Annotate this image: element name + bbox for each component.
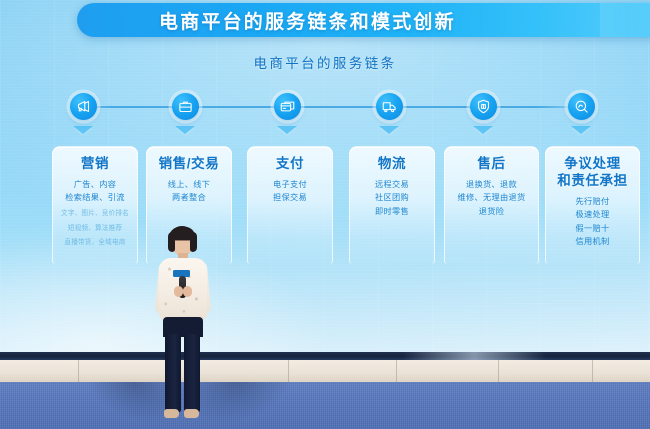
card-line: 维修、无理由退货 <box>445 191 538 205</box>
stage-card-dispute: 争议处理 和责任承担 先行赔付 极速处理 假一赔十 信用机制 <box>545 146 640 264</box>
card-heading: 支付 <box>248 156 332 173</box>
card-line: 广告、内容 <box>53 178 137 192</box>
card-line: 线上、线下 <box>147 178 231 192</box>
timeline-node-payment <box>274 93 301 120</box>
card-line: 两者整合 <box>147 191 231 205</box>
card-line: 检索结果、引流 <box>53 191 137 205</box>
card-heading: 物流 <box>350 156 434 173</box>
presenter-hair-right <box>190 232 197 252</box>
slide-title-banner: 电商平台的服务链条和模式创新 <box>77 3 650 37</box>
truck-icon <box>382 99 397 114</box>
card-heading: 争议处理 和责任承担 <box>546 156 639 190</box>
presenter-glasses <box>174 240 191 244</box>
timeline-node-sales <box>172 93 199 120</box>
slide-subtitle: 电商平台的服务链条 <box>0 52 650 72</box>
card-line: 远程交易 <box>350 178 434 192</box>
card-line: 即时零售 <box>350 205 434 219</box>
timeline-arrow-1 <box>73 126 93 134</box>
megaphone-icon <box>76 99 91 114</box>
stage-dark-band <box>0 352 650 360</box>
presenter-shoe-left <box>164 409 179 418</box>
stage-carpet <box>0 382 650 429</box>
stage-wall-panel <box>0 360 650 382</box>
stage-card-logistics: 物流 远程交易 社区团购 即时零售 <box>349 146 435 264</box>
card-line: 退换货、退款 <box>445 178 538 192</box>
timeline-arrow-4 <box>379 126 399 134</box>
card-heading: 售后 <box>445 156 538 173</box>
card-subline: 文字、图片、竞价排名 <box>53 209 137 220</box>
card-subline: 短视频、算法推荐 <box>53 224 137 235</box>
card-line: 假一赔十 <box>546 222 639 236</box>
slide-title: 电商平台的服务链条和模式创新 <box>159 7 456 34</box>
timeline-arrow-5 <box>473 126 493 134</box>
presenter-leg-right <box>184 334 200 412</box>
presenter-hand-left <box>174 286 183 297</box>
card-line: 先行赔付 <box>546 195 639 209</box>
card-line: 电子支付 <box>248 178 332 192</box>
card-heading: 销售/交易 <box>147 156 231 173</box>
payment-card-icon <box>280 99 295 114</box>
briefcase-icon <box>178 99 193 114</box>
band-highlight <box>403 352 546 360</box>
presenter-hand-right <box>183 286 192 297</box>
card-heading: 营销 <box>53 156 137 173</box>
card-line: 担保交易 <box>248 191 332 205</box>
timeline-axis <box>70 106 580 108</box>
dispute-magnifier-icon <box>574 99 589 114</box>
card-line: 极速处理 <box>546 208 639 222</box>
card-line: 社区团购 <box>350 191 434 205</box>
stage-card-payment: 支付 电子支付 担保交易 <box>247 146 333 264</box>
presenter-speaker <box>146 226 220 422</box>
stage-card-marketing: 营销 广告、内容 检索结果、引流 文字、图片、竞价排名 短视频、算法推荐 直播带… <box>52 146 138 264</box>
timeline-node-after-sales <box>470 93 497 120</box>
card-subline: 直播带货、全域电商 <box>53 238 137 249</box>
card-line: 信用机制 <box>546 235 639 249</box>
card-line: 退货险 <box>445 205 538 219</box>
timeline-arrow-2 <box>175 126 195 134</box>
presenter-leg-left <box>165 334 181 412</box>
stage-card-after-sales: 售后 退换货、退款 维修、无理由退货 退货险 <box>444 146 539 264</box>
conference-stage-photo: 电商平台的服务链条和模式创新 电商平台的服务链条 <box>0 0 650 429</box>
after-sales-shield-icon <box>476 99 491 114</box>
timeline-node-dispute <box>568 93 595 120</box>
title-banner-fade <box>600 3 650 37</box>
timeline-arrow-3 <box>277 126 297 134</box>
timeline-arrow-6 <box>571 126 591 134</box>
presenter-shoe-right <box>184 409 199 418</box>
timeline-node-logistics <box>376 93 403 120</box>
timeline-node-marketing <box>70 93 97 120</box>
